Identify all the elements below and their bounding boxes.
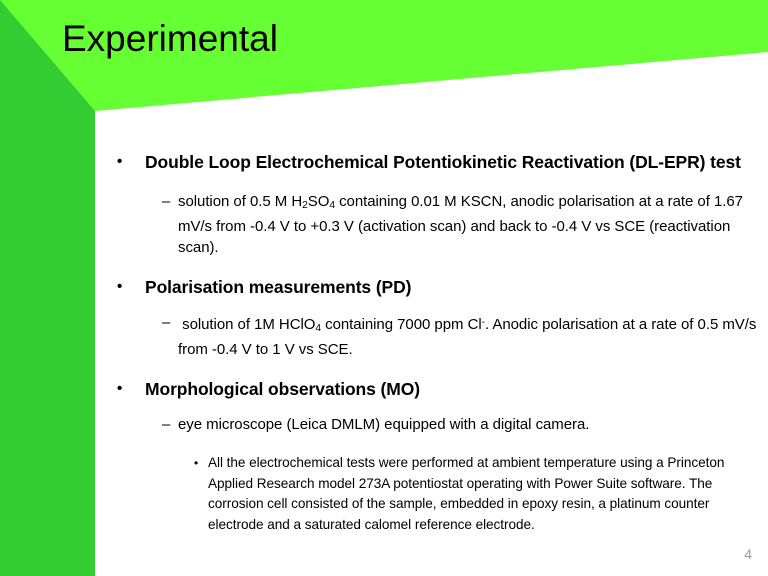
slide-canvas: Experimental • Double Loop Electrochemic… (0, 0, 768, 576)
dash-marker-icon: – (162, 414, 170, 435)
bullet-level2-text: solution of 1M HClO4 containing 7000 ppm… (178, 316, 756, 358)
bullet-level2: – solution of 0.5 M H2SO4 containing 0.0… (112, 191, 758, 258)
bullet-marker-icon: • (117, 275, 122, 299)
bullet-level2-text: eye microscope (Leica DMLM) equipped wit… (178, 416, 589, 433)
bullet-level1: • Polarisation measurements (PD) (112, 275, 758, 299)
bullet-marker-icon: • (194, 453, 198, 474)
spacer (112, 258, 758, 275)
page-number: 4 (744, 546, 752, 562)
spacer (112, 401, 758, 414)
body-content: • Double Loop Electrochemical Potentioki… (112, 150, 758, 435)
bullet-level2: – eye microscope (Leica DMLM) equipped w… (112, 414, 758, 435)
bullet-level2: – solution of 1M HClO4 containing 7000 p… (112, 312, 758, 360)
bullet-marker-icon: • (117, 377, 122, 401)
footnote-block: • All the electrochemical tests were per… (190, 453, 750, 535)
bullet-marker-icon: • (117, 150, 122, 174)
footnote-text: All the electrochemical tests were perfo… (208, 455, 724, 532)
bullet-level1: • Morphological observations (MO) (112, 377, 758, 401)
dash-marker-icon: – (162, 312, 170, 333)
spacer (112, 299, 758, 312)
spacer (112, 174, 758, 191)
bullet-level1-text: Polarisation measurements (PD) (145, 277, 411, 297)
bullet-level1-text: Double Loop Electrochemical Potentiokine… (145, 152, 741, 172)
dash-marker-icon: – (162, 191, 170, 212)
bullet-level2-text: solution of 0.5 M H2SO4 containing 0.01 … (178, 193, 743, 256)
footnote-item: • All the electrochemical tests were per… (190, 453, 750, 535)
spacer (112, 360, 758, 377)
bullet-level1: • Double Loop Electrochemical Potentioki… (112, 150, 758, 174)
sidebar-shape (0, 0, 95, 576)
page-title: Experimental (62, 16, 278, 62)
bullet-level1-text: Morphological observations (MO) (145, 379, 420, 399)
